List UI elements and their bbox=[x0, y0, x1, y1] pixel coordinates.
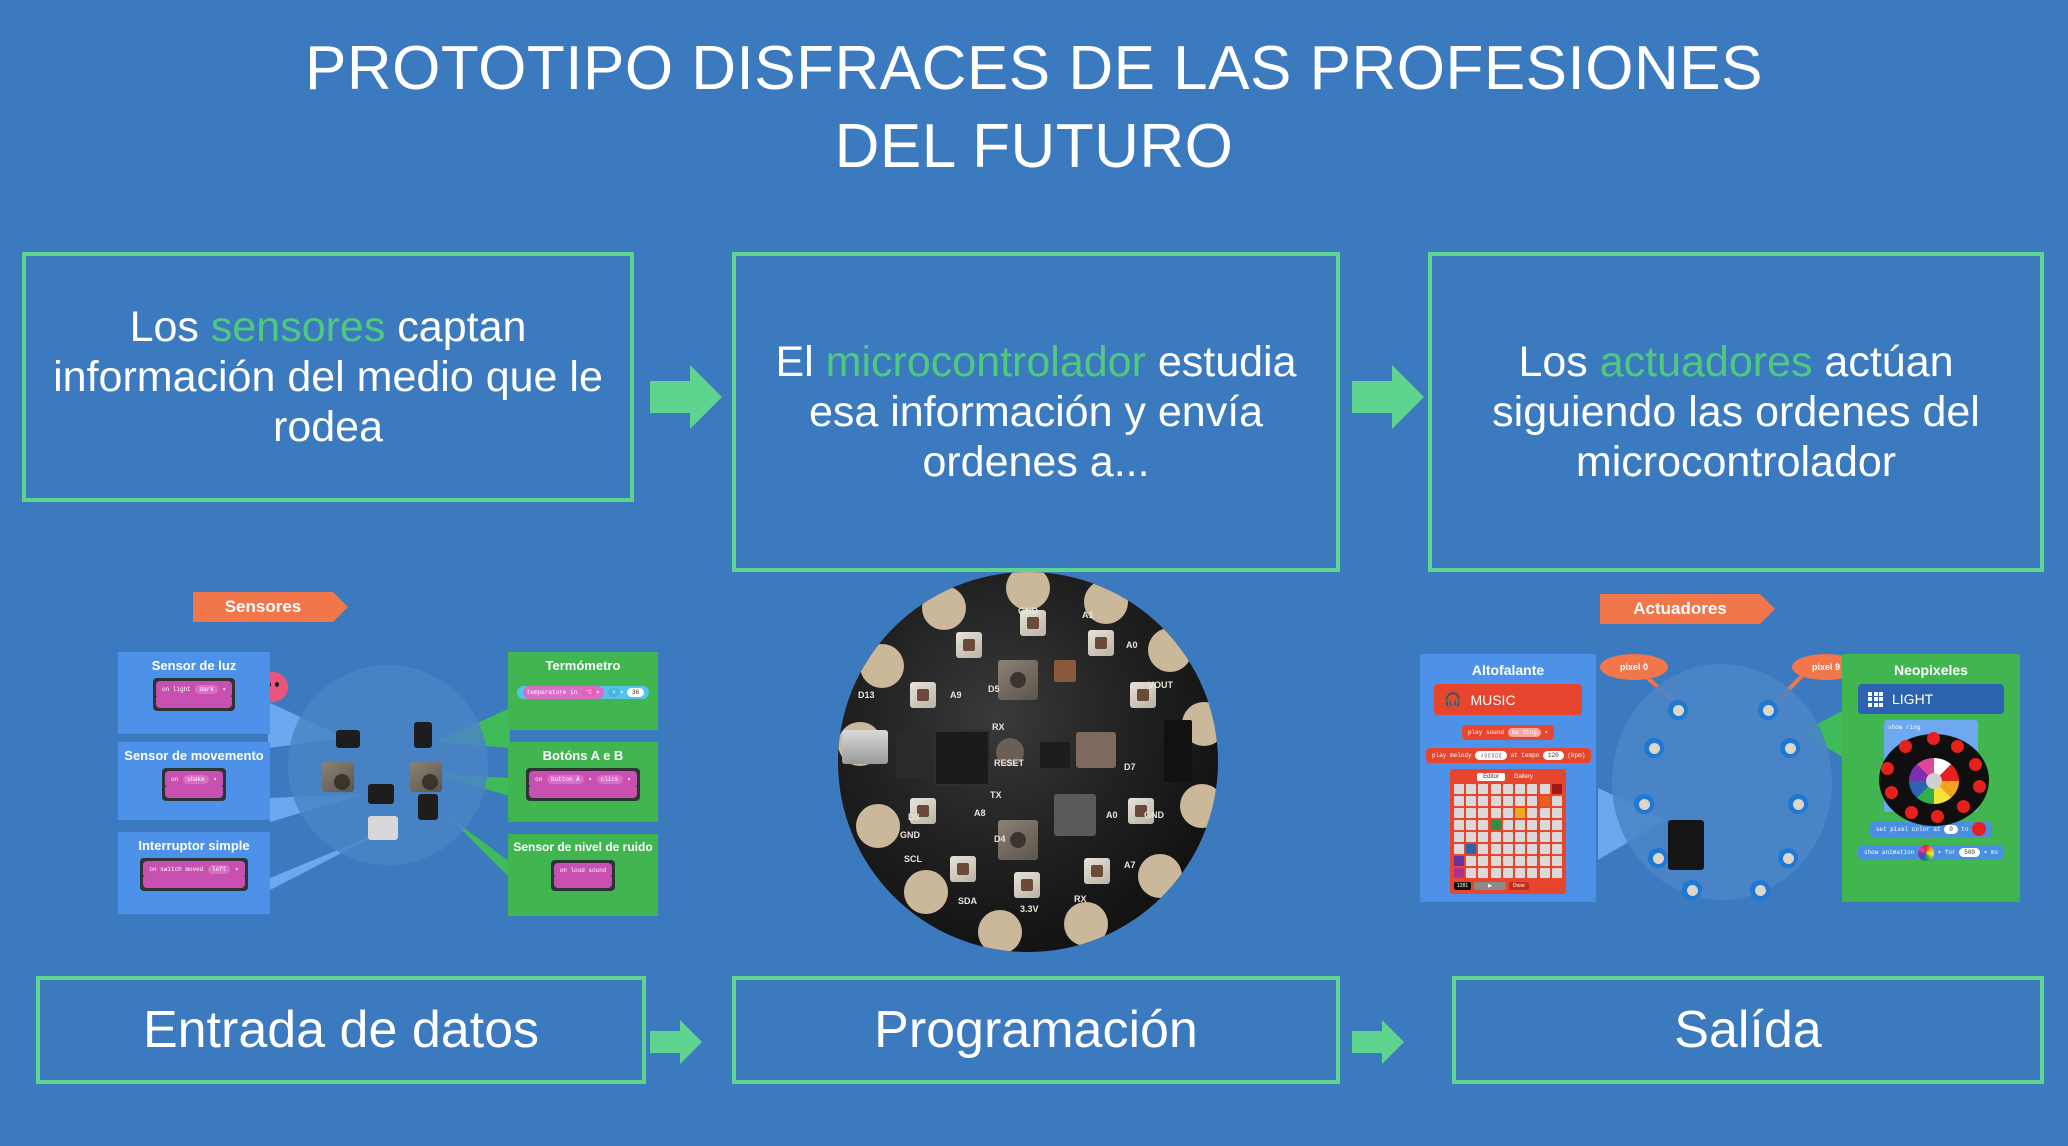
buzzer bbox=[1054, 794, 1096, 836]
block-play-melody[interactable]: play melody ♪▯▯▯▯▯ at tempo 120 (bpm) bbox=[1426, 748, 1591, 763]
light-button[interactable]: LIGHT bbox=[1858, 684, 2004, 714]
usb-port bbox=[842, 730, 888, 764]
block-text-play-melody: play melody bbox=[1432, 752, 1472, 759]
block-to-label: to bbox=[1961, 826, 1968, 833]
editor-done-button[interactable]: Done bbox=[1509, 882, 1529, 890]
editor-count: 1281 bbox=[1454, 882, 1471, 890]
headphones-icon: 🎧 bbox=[1444, 691, 1461, 708]
thermometer-hotspot bbox=[414, 722, 432, 748]
card-termometro: Termómetro temperature in °C▾ <▾ 36 bbox=[508, 652, 658, 730]
block-duration-value: 500 bbox=[1959, 848, 1980, 857]
block-option-play-sound: ba ding bbox=[1508, 728, 1541, 737]
bottom-box-entrada-label: Entrada de datos bbox=[143, 1000, 539, 1060]
block-option-click: click bbox=[597, 775, 623, 784]
block-on-switch-moved: on switch moved left ▾ bbox=[140, 858, 247, 891]
block-on-button: on button A ▾ click ▾ bbox=[526, 768, 640, 801]
block-text-temperature: temperature in bbox=[527, 689, 577, 696]
board-silhouette-actuators bbox=[1612, 664, 1832, 900]
page-title: PROTOTIPO DISFRACES DE LAS PROFESIONES D… bbox=[0, 38, 2068, 178]
concept-highlight-1: sensores bbox=[211, 303, 385, 351]
block-on-loud-sound: on loud sound bbox=[551, 860, 616, 891]
card-title-movimiento: Sensor de movemento bbox=[122, 748, 266, 763]
grid-icon bbox=[1868, 692, 1883, 707]
block-option-shake: shake bbox=[183, 775, 209, 784]
concept-prefix-3: Los bbox=[1518, 338, 1599, 386]
bottom-box-salida: Salída bbox=[1452, 976, 2044, 1084]
melody-editor[interactable]: Editor Gallery 1281 ▶ Done bbox=[1450, 769, 1566, 894]
concept-box-actuators: Los actuadores actúan siguiendo las orde… bbox=[1428, 252, 2044, 572]
block-play-sound[interactable]: play sound ba ding ▾ bbox=[1462, 725, 1554, 740]
card-title-neopixeles: Neopixeles bbox=[1848, 662, 2014, 678]
block-tempo-unit: (bpm) bbox=[1567, 752, 1585, 759]
button-a-hotspot bbox=[322, 762, 354, 792]
block-compare-value: 36 bbox=[627, 688, 644, 697]
actuators-diagram: Actuadores pixel 0 pixel 9 Altofalante bbox=[1420, 592, 2060, 922]
mcu-chip bbox=[934, 730, 990, 786]
light-button-label: LIGHT bbox=[1892, 691, 1933, 707]
callout-pixel-0: pixel 0 bbox=[1600, 654, 1668, 680]
bottom-box-salida-label: Salída bbox=[1674, 1000, 1821, 1060]
card-sensor-luz: Sensor de luz on light dark ▾ bbox=[118, 652, 270, 734]
card-neopixeles: Neopixeles LIGHT show ring bbox=[1842, 654, 2020, 902]
concept-box-microcontroller: El microcontrolador estudia esa informac… bbox=[732, 252, 1340, 572]
block-pixel-index: 0 bbox=[1944, 825, 1958, 834]
melody-notes-icon: ♪▯▯▯▯▯ bbox=[1475, 751, 1507, 760]
callout-pixel-9-label: pixel 9 bbox=[1812, 662, 1840, 672]
block-text-loud-sound: on loud sound bbox=[560, 867, 607, 874]
board-body: D13 D8 D4 D5 D7 A8 A9 TX RX RESET A0 SCL… bbox=[838, 572, 1218, 952]
card-altofalante: Altofalante 🎧 MUSIC play sound ba ding ▾… bbox=[1420, 654, 1596, 902]
block-on-shake: on shake ▾ bbox=[162, 768, 226, 801]
block-show-animation[interactable]: show animation ▾ for 500 ▾ ms bbox=[1858, 845, 2004, 860]
card-botones: Botóns A e B on button A ▾ click ▾ bbox=[508, 742, 658, 822]
block-option-light: dark bbox=[195, 685, 217, 694]
switch-hotspot bbox=[368, 816, 398, 840]
bottom-box-programacion-label: Programación bbox=[874, 1000, 1198, 1060]
microphone-hotspot bbox=[418, 794, 438, 820]
sensors-diagram: Sensores Sensor de luz o bbox=[118, 590, 658, 920]
concept-highlight-2: microcontrolador bbox=[826, 338, 1146, 386]
block-option-button: button A bbox=[547, 775, 584, 784]
accelerometer-hotspot bbox=[368, 784, 394, 804]
concept-prefix-2: El bbox=[775, 338, 825, 386]
animation-preview-icon bbox=[1918, 845, 1934, 861]
card-title-ruido: Sensor de nivel de ruido bbox=[512, 840, 654, 854]
concept-highlight-3: actuadores bbox=[1600, 338, 1813, 386]
card-sensor-movimiento: Sensor de movemento on shake ▾ bbox=[118, 742, 270, 820]
melody-grid[interactable] bbox=[1454, 784, 1562, 878]
block-text-on-light: on light bbox=[162, 686, 191, 693]
title-line-1: PROTOTIPO DISFRACES DE LAS PROFESIONES bbox=[305, 34, 1763, 103]
block-show-ring[interactable]: show ring bbox=[1884, 720, 1978, 812]
block-text-set-pixel: set pixel color at bbox=[1876, 826, 1941, 833]
slide-root: PROTOTIPO DISFRACES DE LAS PROFESIONES D… bbox=[0, 0, 2068, 1146]
card-title-termometro: Termómetro bbox=[512, 658, 654, 673]
block-text-show-animation: show animation bbox=[1864, 849, 1914, 856]
block-option-switch: left bbox=[208, 865, 230, 874]
block-on-light: on light dark ▾ bbox=[153, 678, 235, 711]
editor-play-button[interactable]: ▶ bbox=[1474, 882, 1506, 890]
block-for-label: for bbox=[1945, 849, 1956, 856]
bottom-box-entrada: Entrada de datos bbox=[36, 976, 646, 1084]
circuit-playground-board-photo: D13 D8 D4 D5 D7 A8 A9 TX RX RESET A0 SCL… bbox=[838, 572, 1218, 952]
block-text-show-ring: show ring bbox=[1888, 724, 1974, 731]
button-b bbox=[998, 660, 1038, 700]
light-sensor-hotspot bbox=[336, 730, 360, 748]
neopixel-ring-preview bbox=[1879, 734, 1989, 826]
card-title-altofalante: Altofalante bbox=[1426, 662, 1590, 678]
callout-pixel-0-label: pixel 0 bbox=[1620, 662, 1648, 672]
block-text-on-switch: on switch moved bbox=[149, 866, 203, 873]
concept-prefix-1: Los bbox=[130, 303, 211, 351]
concept-box-sensors: Los sensores captan información del medi… bbox=[22, 252, 634, 502]
editor-tab-gallery[interactable]: Gallery bbox=[1508, 773, 1539, 781]
slide-switch bbox=[1076, 732, 1116, 768]
block-compare-op: < bbox=[608, 688, 620, 697]
card-title-botones: Botóns A e B bbox=[512, 748, 654, 763]
card-interruptor: Interruptor simple on switch moved left … bbox=[118, 832, 270, 914]
block-color-swatch[interactable] bbox=[1972, 822, 1986, 836]
title-line-2: DEL FUTURO bbox=[0, 116, 2068, 178]
block-text-on-shake: on bbox=[171, 776, 178, 783]
card-title-interruptor: Interruptor simple bbox=[122, 838, 266, 853]
block-duration-unit: ms bbox=[1991, 849, 1998, 856]
bottom-box-programacion: Programación bbox=[732, 976, 1340, 1084]
card-title-luz: Sensor de luz bbox=[122, 658, 266, 673]
block-option-units: °C bbox=[581, 688, 596, 697]
card-ruido: Sensor de nivel de ruido on loud sound bbox=[508, 834, 658, 916]
block-tempo-value: 120 bbox=[1543, 751, 1564, 760]
block-text-on-button: on bbox=[535, 776, 542, 783]
editor-tab-editor[interactable]: Editor bbox=[1477, 773, 1505, 781]
block-text-tempo-label: at tempo bbox=[1511, 752, 1540, 759]
block-temperature: temperature in °C▾ <▾ 36 bbox=[517, 686, 650, 699]
music-button[interactable]: 🎧 MUSIC bbox=[1434, 684, 1582, 715]
button-b-hotspot bbox=[410, 762, 442, 792]
music-button-label: MUSIC bbox=[1470, 692, 1515, 708]
block-text-play-sound: play sound bbox=[1468, 729, 1504, 736]
speaker-hotspot bbox=[1668, 820, 1704, 870]
